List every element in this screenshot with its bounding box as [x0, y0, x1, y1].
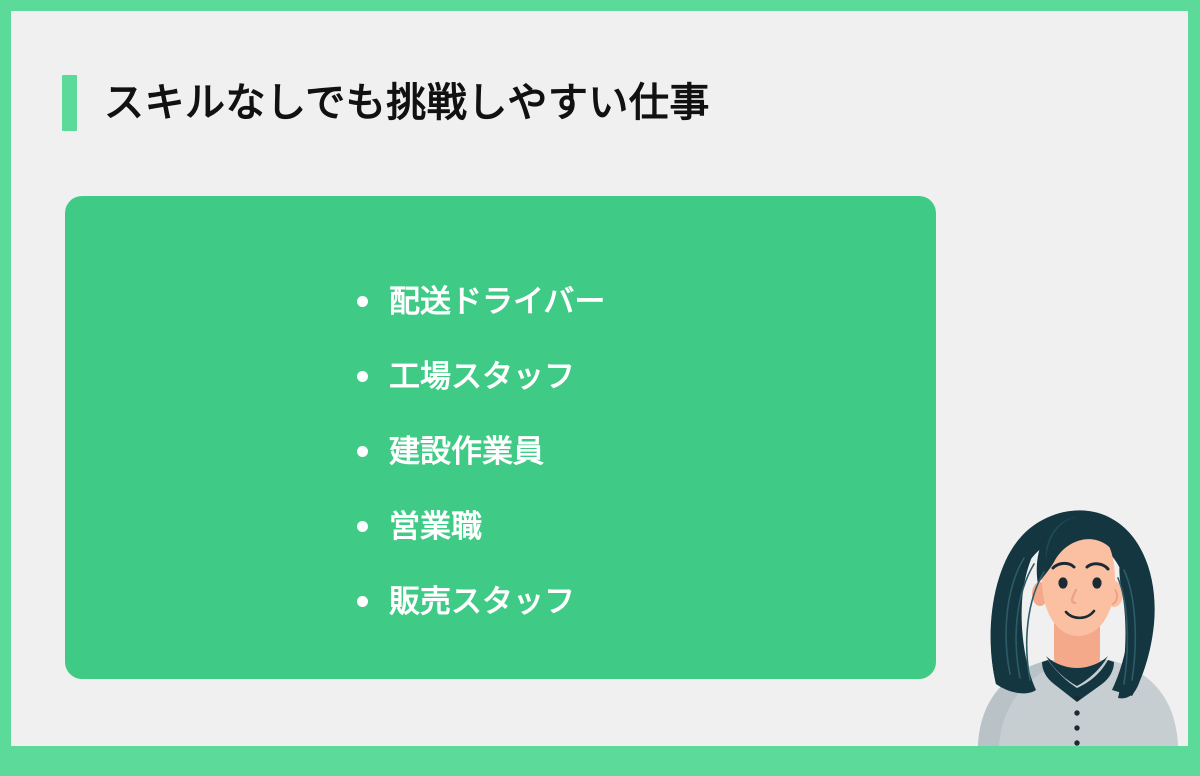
list-item-label: 建設作業員 [389, 436, 544, 467]
list-item: 工場スタッフ [357, 339, 605, 414]
page-title-text: スキルなしでも挑戦しやすい仕事 [104, 83, 710, 123]
job-list-card: 配送ドライバー 工場スタッフ 建設作業員 営業職 販売スタッフ [65, 196, 936, 679]
slide-root: スキルなしでも挑戦しやすい仕事 配送ドライバー 工場スタッフ 建設作業員 [0, 0, 1200, 776]
shirt-button [1074, 740, 1079, 745]
eye-right-icon [1092, 577, 1101, 588]
bullet-icon [357, 296, 368, 307]
list-item-label: 工場スタッフ [389, 361, 575, 392]
shirt-button [1074, 725, 1079, 730]
page-title: スキルなしでも挑戦しやすい仕事 [62, 75, 710, 131]
list-item-label: 営業職 [389, 511, 482, 542]
person-illustration-svg [962, 484, 1188, 746]
job-list: 配送ドライバー 工場スタッフ 建設作業員 営業職 販売スタッフ [357, 264, 605, 639]
bullet-icon [357, 446, 368, 457]
bullet-icon [357, 371, 368, 382]
list-item: 営業職 [357, 489, 605, 564]
title-accent-bar [62, 75, 77, 131]
shirt-button [1074, 710, 1079, 715]
list-item: 販売スタッフ [357, 564, 605, 639]
list-item-label: 配送ドライバー [389, 286, 605, 317]
bullet-icon [357, 596, 368, 607]
list-item: 配送ドライバー [357, 264, 605, 339]
person-illustration [962, 484, 1188, 746]
list-item-label: 販売スタッフ [389, 586, 575, 617]
shirt-button [1074, 695, 1079, 700]
eye-left-icon [1058, 577, 1067, 588]
bullet-icon [357, 521, 368, 532]
list-item: 建設作業員 [357, 414, 605, 489]
slide-canvas: スキルなしでも挑戦しやすい仕事 配送ドライバー 工場スタッフ 建設作業員 [11, 11, 1188, 746]
